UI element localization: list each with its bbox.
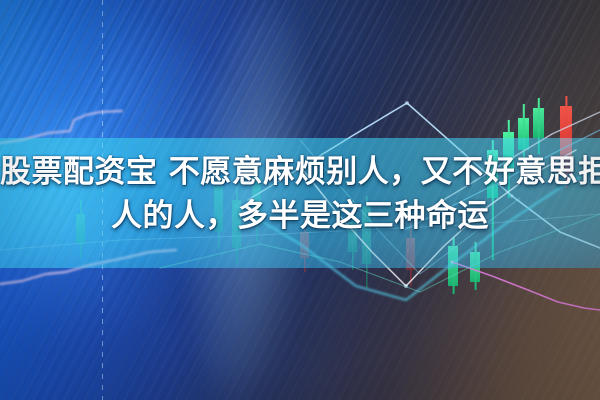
stock-news-banner: 股票配资宝 不愿意麻烦别人，又不好意思拒绝别 人的人，多半是这三种命运 (0, 0, 600, 400)
headline-line-1: 股票配资宝 不愿意麻烦别人，又不好意思拒绝别 (0, 150, 600, 194)
headline: 股票配资宝 不愿意麻烦别人，又不好意思拒绝别 人的人，多半是这三种命运 (0, 150, 600, 238)
headline-line-2: 人的人，多半是这三种命运 (0, 194, 600, 238)
